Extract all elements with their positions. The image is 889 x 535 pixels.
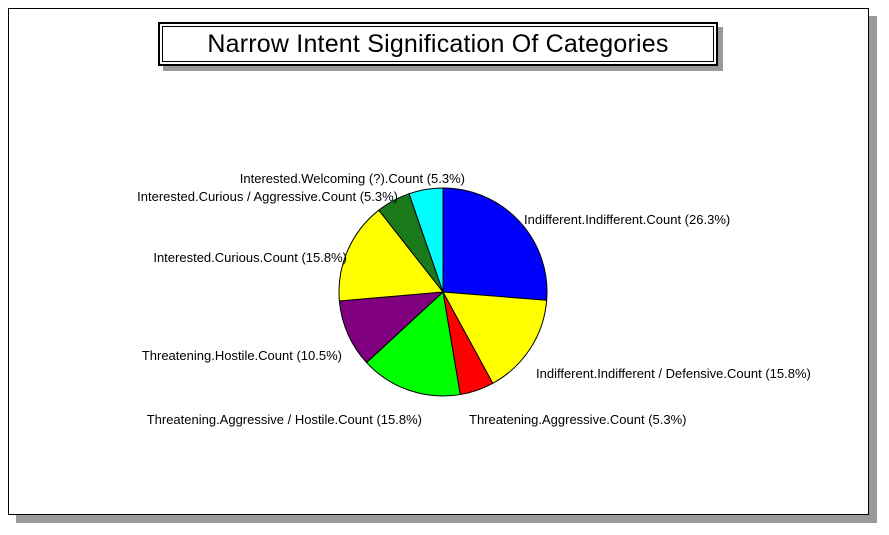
pie-label-indifferent-defensive: Indifferent.Indifferent / Defensive.Coun… (536, 366, 811, 381)
chart-title-inner-border: Narrow Intent Signification Of Categorie… (162, 26, 714, 62)
chart-window: Indifferent.Indifferent.Count (26.3%) In… (8, 8, 869, 515)
pie-label-interested-curious-aggressive: Interested.Curious / Aggressive.Count (5… (65, 189, 398, 204)
pie-chart-plot-area: Indifferent.Indifferent.Count (26.3%) In… (9, 9, 868, 514)
page-title: Narrow Intent Signification Of Categorie… (207, 30, 668, 59)
pie-label-threatening-aggressive-hostile: Threatening.Aggressive / Hostile.Count (… (73, 412, 422, 427)
pie-label-threatening-hostile: Threatening.Hostile.Count (10.5%) (93, 348, 342, 363)
pie-label-threatening-aggressive: Threatening.Aggressive.Count (5.3%) (469, 412, 687, 427)
pie-label-interested-curious: Interested.Curious.Count (15.8%) (99, 250, 347, 265)
pie-slice-group (339, 188, 547, 396)
pie-label-interested-welcoming: Interested.Welcoming (?).Count (5.3%) (155, 171, 465, 186)
pie-label-indifferent-indifferent: Indifferent.Indifferent.Count (26.3%) (524, 212, 730, 227)
chart-title-box: Narrow Intent Signification Of Categorie… (158, 22, 718, 66)
pie-slice[interactable] (443, 188, 547, 300)
